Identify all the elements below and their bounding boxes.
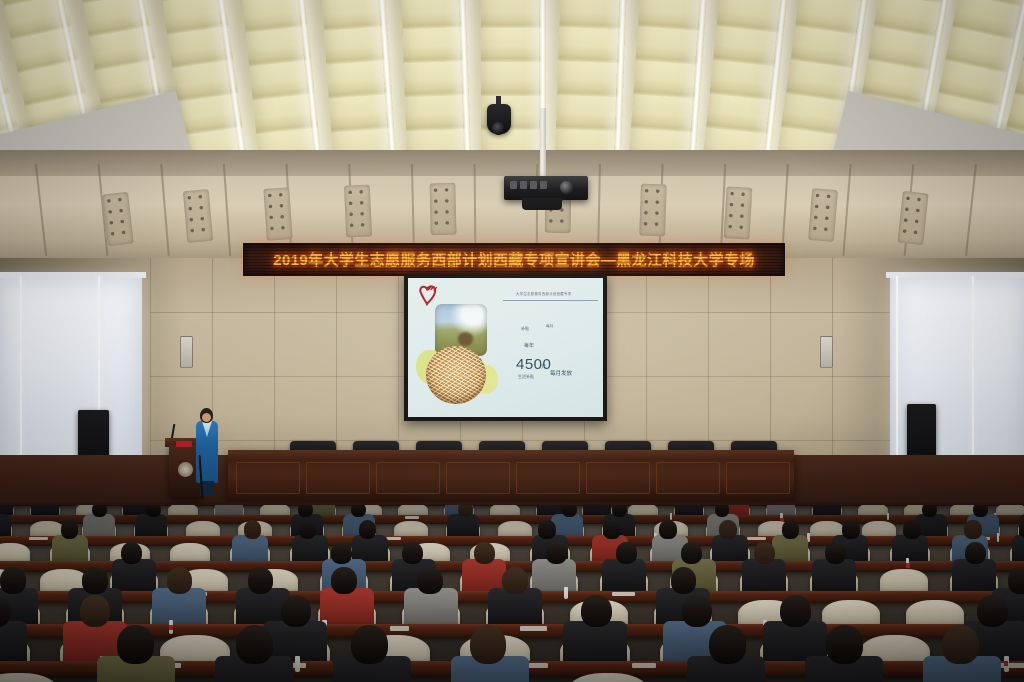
soffit-perforated-panel xyxy=(344,185,372,238)
ceiling-camera-icon xyxy=(487,104,511,134)
water-bottle xyxy=(997,533,1000,542)
audience-person-head xyxy=(682,595,713,627)
audience-person-head xyxy=(681,542,702,564)
window-right-frame-top xyxy=(886,272,1024,278)
soffit-rib xyxy=(965,164,977,256)
audience-person-head xyxy=(299,520,317,538)
table-panel xyxy=(306,462,370,494)
water-bottle xyxy=(906,558,909,569)
audience-person-head xyxy=(244,520,262,538)
audience-person-head xyxy=(659,520,677,538)
water-bottle xyxy=(169,620,173,634)
audience-person-head xyxy=(359,520,377,538)
soffit-rib xyxy=(160,164,170,256)
audience-person-torso xyxy=(742,559,786,591)
audience-person-head xyxy=(709,625,746,664)
projector-lens-icon xyxy=(560,181,573,194)
wall-speaker-left xyxy=(180,336,193,368)
slide-amount: 4500 xyxy=(516,356,551,373)
slide-label-e: 每月发放 xyxy=(550,369,572,377)
audience-person-head xyxy=(167,567,193,594)
slide-image-grain-bowl xyxy=(426,346,486,404)
audience-person-head xyxy=(562,505,577,517)
soffit-perforated-panel xyxy=(102,191,134,246)
audience-person-head xyxy=(942,625,979,664)
audience-person-head xyxy=(612,505,627,517)
audience-person-head xyxy=(351,625,388,664)
audience-person-head xyxy=(417,567,443,594)
audience-person-torso xyxy=(232,535,269,562)
audience-person-head xyxy=(825,542,846,564)
desk-paper xyxy=(612,592,636,596)
soffit-perforated-panel xyxy=(639,184,667,237)
audience-person-torso xyxy=(292,535,329,562)
audience-person-head xyxy=(298,505,313,517)
audience-person-head xyxy=(977,595,1008,627)
table-panel xyxy=(376,462,440,494)
audience-person-torso xyxy=(135,514,166,537)
soffit-perforated-panel xyxy=(724,186,753,239)
slide-label-b: 每月 xyxy=(546,324,553,329)
soffit-perforated-panel xyxy=(429,182,456,235)
table-panel xyxy=(236,462,300,494)
slide-header-note: 大学生志愿服务西部计划西藏专项 xyxy=(516,291,571,296)
led-banner: 2019年大学生志愿服务西部计划西藏专项宣讲会—黑龙江科技大学专场 xyxy=(243,243,785,276)
audience-person-head xyxy=(474,542,495,564)
audience-person-head xyxy=(719,520,737,538)
slide-divider xyxy=(503,300,598,301)
water-bottle xyxy=(1004,656,1009,672)
audience-person-head xyxy=(402,542,423,564)
audience-person-head xyxy=(1008,567,1024,594)
audience-person-head xyxy=(281,595,312,627)
table-panel xyxy=(656,462,720,494)
audience-person-head xyxy=(61,520,79,538)
water-bottle xyxy=(780,513,782,521)
audience-person-torso xyxy=(0,514,11,537)
audience-person-head xyxy=(470,625,507,664)
audience-person-head xyxy=(603,520,621,538)
slide-label-d: 生活补贴 xyxy=(518,374,534,380)
soffit-rib xyxy=(842,164,851,256)
desk-paper xyxy=(405,516,420,518)
audience-person-head xyxy=(121,542,142,564)
audience-person-torso xyxy=(551,514,582,537)
audience-person-torso xyxy=(772,535,809,562)
audience-person-torso xyxy=(812,559,856,591)
audience-seating xyxy=(0,505,1024,682)
audience-person-torso xyxy=(320,588,373,627)
soffit-perforated-panel xyxy=(263,187,292,241)
water-bottle xyxy=(564,587,568,599)
soffit-perforated-panel xyxy=(183,189,214,243)
audience-person-torso xyxy=(892,535,929,562)
desk-paper xyxy=(520,626,547,630)
audience-person-head xyxy=(502,567,528,594)
audience-person-head xyxy=(351,505,366,517)
audience-person-torso xyxy=(83,514,114,537)
audience-person-head xyxy=(964,520,982,538)
audience-person-head xyxy=(780,595,811,627)
audience-person-torso xyxy=(602,559,646,591)
audience-person-head xyxy=(782,520,800,538)
projector-body-lower xyxy=(522,198,562,210)
ceiling-panel xyxy=(553,0,624,160)
audience-person-head xyxy=(146,505,161,517)
table-panel xyxy=(586,462,650,494)
audience-person-head xyxy=(80,595,111,627)
audience-person-head xyxy=(117,625,154,664)
audience-person-head xyxy=(248,567,274,594)
podium-red-object xyxy=(176,441,192,447)
banner-text: 2019年大学生志愿服务西部计划西藏专项宣讲会—黑龙江科技大学专场 xyxy=(273,249,755,270)
audience-person-torso xyxy=(712,535,749,562)
head-table xyxy=(228,450,794,502)
table-panel xyxy=(726,462,790,494)
audience-person-head xyxy=(331,567,357,594)
ceiling-panel xyxy=(481,0,543,160)
audience-person-torso xyxy=(462,559,506,591)
wall-speaker-right xyxy=(820,336,833,368)
audience-person-torso xyxy=(532,559,576,591)
audience-person-head xyxy=(581,595,612,627)
audience-person-torso xyxy=(52,535,89,562)
soffit-perforated-panel xyxy=(897,191,928,245)
audience-person-head xyxy=(754,542,775,564)
audience-person-head xyxy=(538,520,556,538)
table-panel xyxy=(446,462,510,494)
desk-paper xyxy=(29,537,48,540)
audience-person-torso xyxy=(952,559,996,591)
desk-paper xyxy=(747,537,766,540)
audience-person-torso xyxy=(447,514,478,537)
water-bottle xyxy=(295,656,300,672)
projection-screen: 大学生志愿服务西部计划西藏专项 补贴 每月 每年 4500 元 生活补贴 每月发… xyxy=(408,278,603,417)
projector-pole xyxy=(540,108,546,180)
audience-person-head xyxy=(671,567,697,594)
audience-person-torso xyxy=(152,588,205,627)
ceiling-projector xyxy=(504,176,588,200)
soffit-rib xyxy=(35,164,47,256)
slide-label-a: 补贴 xyxy=(521,326,529,332)
audience-person-head xyxy=(826,625,863,664)
audience-person-head xyxy=(82,567,108,594)
slide-label-c: 每年 xyxy=(524,342,534,349)
audience-person-torso xyxy=(404,588,457,627)
desk-paper xyxy=(390,626,408,630)
soffit-perforated-panel xyxy=(808,188,838,242)
presenter xyxy=(196,408,218,496)
audience-person-head xyxy=(331,542,352,564)
audience-person-head xyxy=(922,505,937,517)
table-panel xyxy=(516,462,580,494)
audience-person-head xyxy=(546,542,567,564)
projection-screen-frame: 大学生志愿服务西部计划西藏专项 补贴 每月 每年 4500 元 生活补贴 每月发… xyxy=(404,274,607,421)
audience-person-head xyxy=(236,625,273,664)
audience-person-torso xyxy=(488,588,541,627)
audience-person-torso xyxy=(112,559,156,591)
slide-amount-unit: 元 xyxy=(541,363,546,370)
audience-person-torso xyxy=(1012,535,1024,562)
desk-paper xyxy=(632,663,656,668)
audience-person-head xyxy=(0,567,26,594)
audience-person-head xyxy=(973,505,988,517)
audience-person-head xyxy=(616,542,637,564)
audience-desk xyxy=(0,536,1024,546)
audience-person-head xyxy=(842,520,860,538)
audience-person-head xyxy=(92,505,107,517)
soffit-rib xyxy=(223,164,231,256)
audience-person-head xyxy=(903,520,921,538)
university-crest-icon xyxy=(178,462,193,477)
audience-person-head xyxy=(965,542,986,564)
auditorium-photo: 2019年大学生志愿服务西部计划西藏专项宣讲会—黑龙江科技大学专场 大学生志愿服… xyxy=(0,0,1024,682)
audience-person-torso xyxy=(352,535,389,562)
